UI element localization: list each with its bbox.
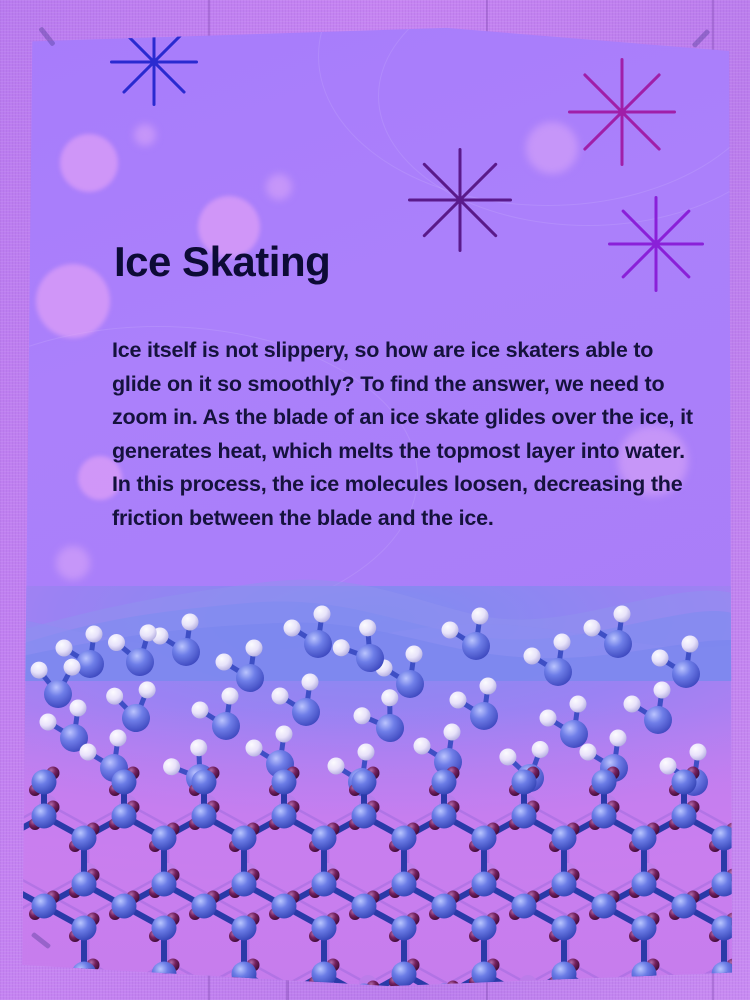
- star-purple-center: [408, 148, 512, 252]
- page-title: Ice Skating: [114, 238, 330, 286]
- molecule-illustration: [18, 586, 732, 988]
- bokeh-circle: [60, 134, 118, 192]
- star-violet-right: [608, 196, 704, 292]
- poster-sheet: Ice Skating Ice itself is not slippery, …: [18, 26, 732, 988]
- bokeh-circle: [36, 264, 110, 338]
- bokeh-circle: [134, 124, 156, 146]
- water-molecule-layer: [21, 606, 708, 798]
- star-magenta-top-right: [568, 58, 676, 166]
- bokeh-circle: [266, 174, 292, 200]
- body-paragraph: Ice itself is not slippery, so how are i…: [112, 334, 700, 535]
